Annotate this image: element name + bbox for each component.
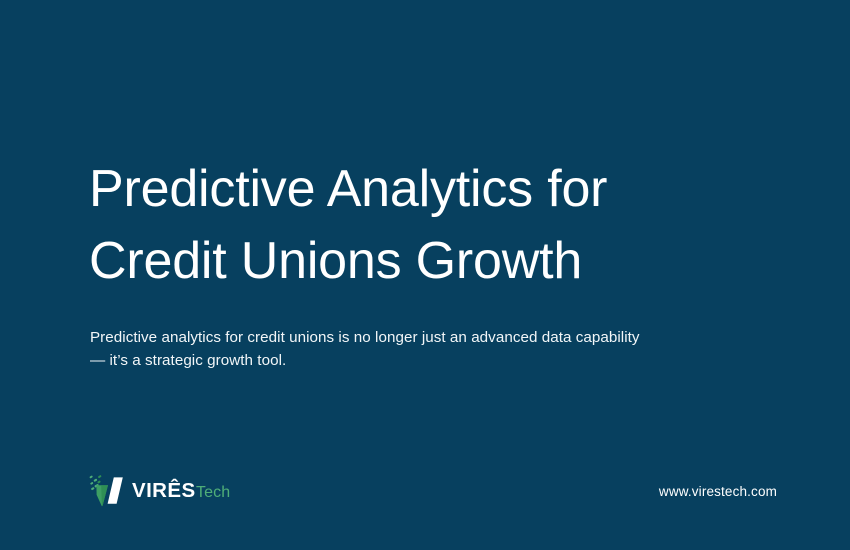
presentation-slide: Predictive Analytics for Credit Unions G…	[0, 0, 850, 550]
vires-leaf-particles-icon	[89, 475, 125, 507]
logo-primary-text: VIRÊS	[132, 481, 196, 502]
logo-wordmark: VIRÊS Tech	[132, 481, 230, 502]
page-title: Predictive Analytics for Credit Unions G…	[89, 153, 689, 297]
logo-secondary-text: Tech	[196, 485, 230, 501]
brand-logo: VIRÊS Tech	[89, 468, 230, 514]
site-url-label[interactable]: www.virestech.com	[659, 468, 777, 514]
slide-subtitle: Predictive analytics for credit unions i…	[90, 326, 642, 372]
slide-footer: VIRÊS Tech www.virestech.com	[0, 468, 850, 514]
